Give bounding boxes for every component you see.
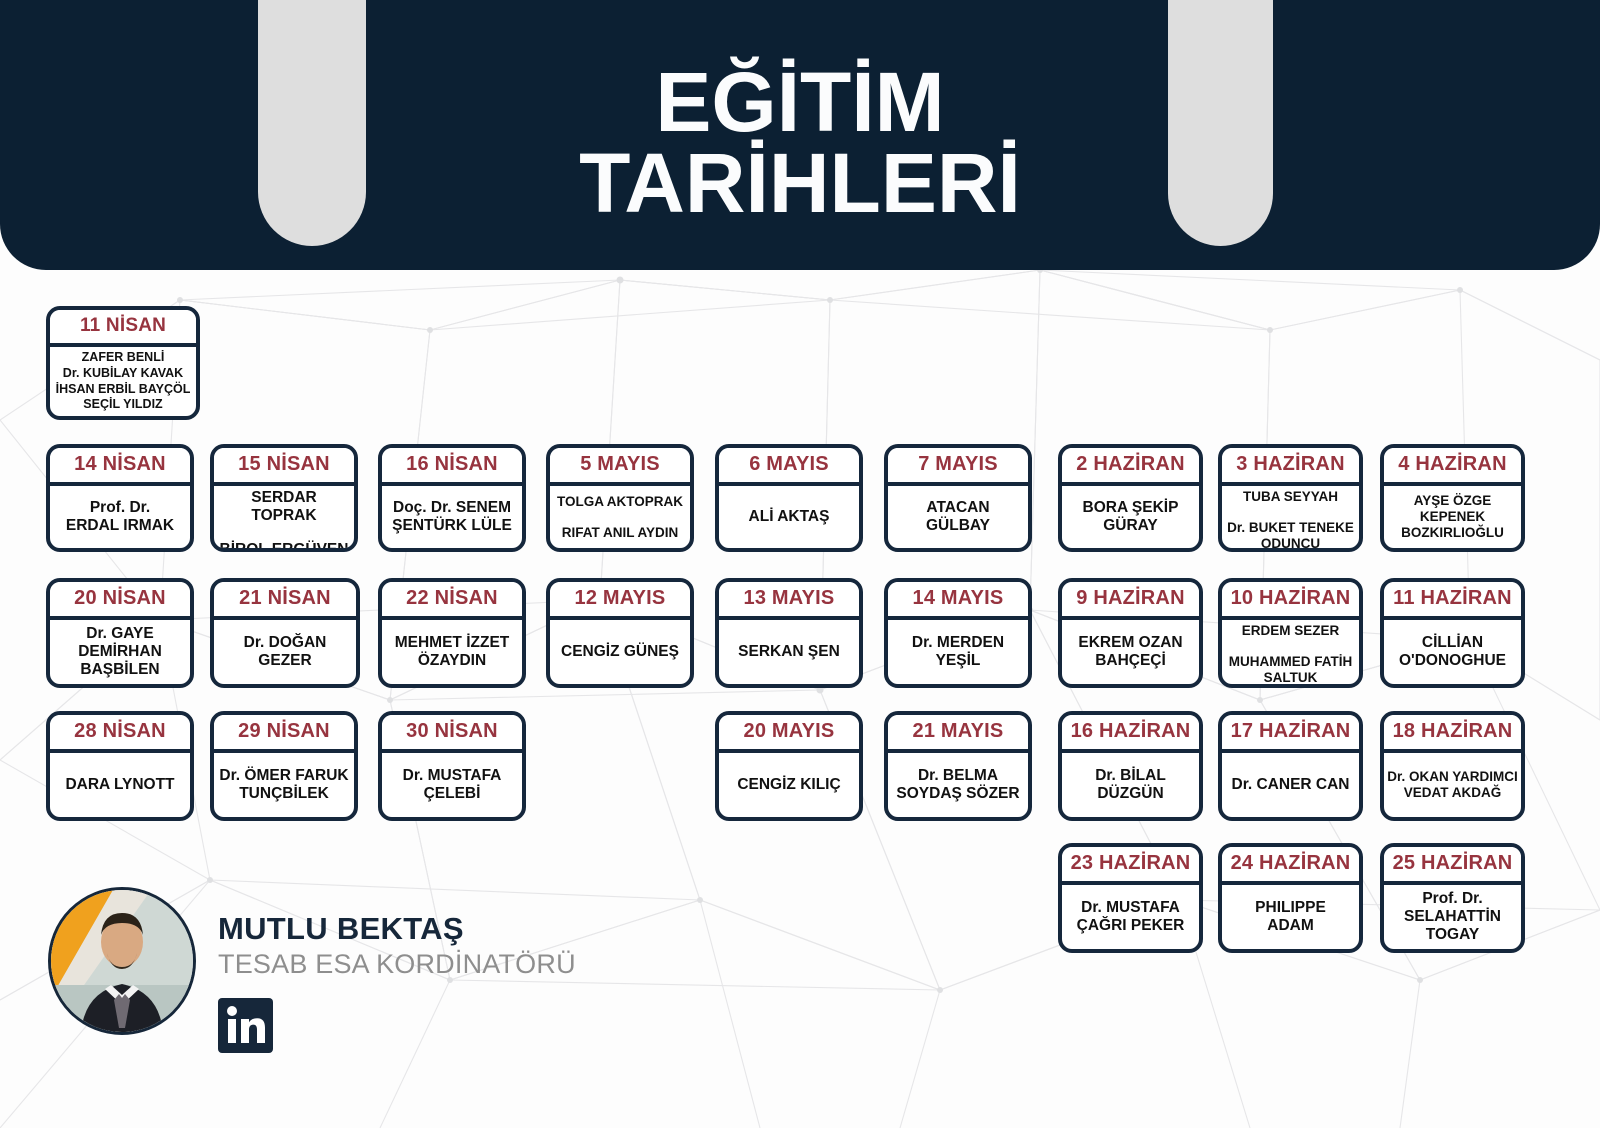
card-speaker-name: TUNÇBİLEK bbox=[239, 785, 329, 803]
training-date-card: 28 NİSANDARA LYNOTT bbox=[46, 711, 194, 821]
card-speaker-name: BAŞBİLEN bbox=[80, 661, 159, 679]
page-title: EĞİTİM TARİHLERİ bbox=[0, 62, 1600, 225]
card-date-label: 12 MAYIS bbox=[550, 582, 690, 620]
card-speaker-name: Dr. CANER CAN bbox=[1232, 776, 1350, 794]
card-speaker-list: Prof. Dr.ERDAL IRMAK bbox=[50, 486, 190, 548]
card-speaker-name: TOGAY bbox=[1426, 926, 1479, 944]
training-date-card: 16 HAZİRANDr. BİLALDÜZGÜN bbox=[1058, 711, 1203, 821]
card-date-label: 3 HAZİRAN bbox=[1222, 448, 1359, 486]
card-date-label: 21 NİSAN bbox=[214, 582, 356, 620]
card-date-label: 13 MAYIS bbox=[719, 582, 859, 620]
card-speaker-name: BAHÇEÇİ bbox=[1095, 652, 1166, 670]
card-speaker-name: ÖZAYDIN bbox=[418, 652, 486, 670]
card-speaker-name: VEDAT AKDAĞ bbox=[1404, 785, 1502, 801]
card-speaker-name: CENGİZ KILIÇ bbox=[737, 776, 840, 794]
card-speaker-list: Dr. MUSTAFAÇELEBİ bbox=[382, 753, 522, 817]
profile-name: MUTLU BEKTAŞ bbox=[218, 913, 688, 946]
avatar-portrait-image bbox=[51, 890, 193, 1032]
card-speaker-name: KEPENEK bbox=[1420, 509, 1485, 525]
card-date-label: 23 HAZİRAN bbox=[1062, 847, 1199, 885]
card-date-label: 22 NİSAN bbox=[382, 582, 522, 620]
card-date-label: 6 MAYIS bbox=[719, 448, 859, 486]
card-speaker-name: BİROL ERGÜVEN bbox=[220, 541, 349, 552]
card-speaker-list: Doç. Dr. SENEMŞENTÜRK LÜLE bbox=[382, 486, 522, 548]
page-title-line-1: EĞİTİM bbox=[0, 62, 1600, 143]
card-date-label: 21 MAYIS bbox=[888, 715, 1028, 753]
card-speaker-name: RIFAT ANIL AYDIN bbox=[562, 525, 679, 541]
training-date-card: 9 HAZİRANEKREM OZANBAHÇEÇİ bbox=[1058, 578, 1203, 688]
card-speaker-name: GÜRAY bbox=[1103, 517, 1158, 535]
card-speaker-name: Doç. Dr. SENEM bbox=[393, 499, 511, 517]
card-speaker-name: SOYDAŞ SÖZER bbox=[896, 785, 1019, 803]
card-speaker-name: CİLLİAN bbox=[1422, 634, 1483, 652]
card-date-label: 28 NİSAN bbox=[50, 715, 190, 753]
card-speaker-list: CENGİZ GÜNEŞ bbox=[550, 620, 690, 684]
card-speaker-name: SELAHATTİN bbox=[1404, 908, 1501, 926]
training-date-card: 14 NİSANProf. Dr.ERDAL IRMAK bbox=[46, 444, 194, 552]
training-date-card: 12 MAYISCENGİZ GÜNEŞ bbox=[546, 578, 694, 688]
training-date-card: 29 NİSANDr. ÖMER FARUKTUNÇBİLEK bbox=[210, 711, 358, 821]
card-speaker-name: ERDEM SEZER bbox=[1242, 623, 1340, 639]
card-speaker-name: ÇELEBİ bbox=[424, 785, 481, 803]
card-speaker-name: MUHAMMED FATİH SALTUK bbox=[1225, 654, 1356, 686]
training-date-card: 13 MAYISSERKAN ŞEN bbox=[715, 578, 863, 688]
avatar bbox=[48, 887, 196, 1035]
card-date-label: 29 NİSAN bbox=[214, 715, 354, 753]
training-date-card: 6 MAYISALİ AKTAŞ bbox=[715, 444, 863, 552]
card-date-label: 24 HAZİRAN bbox=[1222, 847, 1359, 885]
card-date-label: 25 HAZİRAN bbox=[1384, 847, 1521, 885]
card-speaker-name: PHILIPPE bbox=[1255, 899, 1326, 917]
card-speaker-name: İHSAN ERBİL BAYÇÖL bbox=[56, 382, 191, 398]
card-speaker-list: Dr. CANER CAN bbox=[1222, 753, 1359, 817]
card-speaker-name: ÇAĞRI PEKER bbox=[1077, 917, 1185, 935]
card-speaker-name: ERDAL IRMAK bbox=[66, 517, 174, 535]
card-date-label: 14 NİSAN bbox=[50, 448, 190, 486]
card-speaker-list: Dr. BELMASOYDAŞ SÖZER bbox=[888, 753, 1028, 817]
training-date-card: 25 HAZİRANProf. Dr.SELAHATTİNTOGAY bbox=[1380, 843, 1525, 953]
training-date-card: 30 NİSANDr. MUSTAFAÇELEBİ bbox=[378, 711, 526, 821]
card-date-label: 11 NİSAN bbox=[50, 310, 196, 347]
page-title-line-2: TARİHLERİ bbox=[0, 143, 1600, 224]
card-speaker-name: SERKAN ŞEN bbox=[738, 643, 840, 661]
card-speaker-list: Dr. MERDENYEŞİL bbox=[888, 620, 1028, 684]
training-date-card: 20 NİSANDr. GAYEDEMİRHANBAŞBİLEN bbox=[46, 578, 194, 688]
card-speaker-name: Dr. BUKET TENEKE ODUNCU bbox=[1225, 520, 1356, 552]
card-speaker-list: ERDEM SEZERMUHAMMED FATİH SALTUK bbox=[1222, 620, 1359, 688]
card-date-label: 15 NİSAN bbox=[214, 448, 354, 486]
card-speaker-list: SERKAN ŞEN bbox=[719, 620, 859, 684]
card-speaker-name: DEMİRHAN bbox=[78, 643, 162, 661]
card-speaker-name: EKREM OZAN bbox=[1078, 634, 1182, 652]
card-date-label: 4 HAZİRAN bbox=[1384, 448, 1521, 486]
presenter-profile: MUTLU BEKTAŞ TESAB ESA KORDİNATÖRÜ bbox=[48, 885, 688, 1045]
training-date-card: 11 HAZİRANCİLLİANO'DONOGHUE bbox=[1380, 578, 1525, 688]
training-date-card: 20 MAYISCENGİZ KILIÇ bbox=[715, 711, 863, 821]
card-speaker-name: Dr. DOĞAN GEZER bbox=[217, 634, 353, 671]
training-date-card: 16 NİSANDoç. Dr. SENEMŞENTÜRK LÜLE bbox=[378, 444, 526, 552]
card-date-label: 20 NİSAN bbox=[50, 582, 190, 620]
card-speaker-name: Dr. MUSTAFA bbox=[403, 767, 502, 785]
card-speaker-list: ALİ AKTAŞ bbox=[719, 486, 859, 548]
card-speaker-list: TUBA SEYYAHDr. BUKET TENEKE ODUNCU bbox=[1222, 486, 1359, 552]
training-date-card: 2 HAZİRANBORA ŞEKİPGÜRAY bbox=[1058, 444, 1203, 552]
card-speaker-name: TOLGA AKTOPRAK bbox=[557, 494, 683, 510]
card-speaker-name: ALİ AKTAŞ bbox=[749, 508, 830, 526]
card-speaker-list: Dr. ÖMER FARUKTUNÇBİLEK bbox=[214, 753, 354, 817]
card-date-label: 17 HAZİRAN bbox=[1222, 715, 1359, 753]
card-speaker-list: SERDAR TOPRAKBİROL ERGÜVEN bbox=[214, 486, 354, 552]
card-speaker-name: Dr. OKAN YARDIMCI bbox=[1387, 769, 1518, 785]
card-date-label: 16 NİSAN bbox=[382, 448, 522, 486]
card-speaker-name: ZAFER BENLİ bbox=[82, 350, 165, 366]
card-speaker-name: Dr. GAYE bbox=[86, 625, 154, 643]
card-speaker-name: BORA ŞEKİP bbox=[1083, 499, 1179, 517]
profile-role: TESAB ESA KORDİNATÖRÜ bbox=[218, 949, 688, 979]
card-speaker-name: Dr. BELMA bbox=[918, 767, 998, 785]
training-date-card: 7 MAYISATACANGÜLBAY bbox=[884, 444, 1032, 552]
card-date-label: 14 MAYIS bbox=[888, 582, 1028, 620]
card-speaker-list: ZAFER BENLİDr. KUBİLAY KAVAKİHSAN ERBİL … bbox=[50, 347, 196, 416]
card-speaker-name: DARA LYNOTT bbox=[65, 776, 174, 794]
card-speaker-name: Prof. Dr. bbox=[90, 499, 150, 517]
card-speaker-name: ADAM bbox=[1267, 917, 1314, 935]
card-speaker-list: PHILIPPEADAM bbox=[1222, 885, 1359, 949]
training-date-card: 22 NİSANMEHMET İZZETÖZAYDIN bbox=[378, 578, 526, 688]
card-speaker-name: BOZKIRLIOĞLU bbox=[1401, 525, 1504, 541]
training-date-card: 17 HAZİRANDr. CANER CAN bbox=[1218, 711, 1363, 821]
card-speaker-list: Dr. DOĞAN GEZER bbox=[214, 620, 356, 684]
card-date-label: 20 MAYIS bbox=[719, 715, 859, 753]
card-speaker-list: AYŞE ÖZGEKEPENEKBOZKIRLIOĞLU bbox=[1384, 486, 1521, 548]
card-speaker-name: TUBA SEYYAH bbox=[1243, 489, 1338, 505]
card-date-label: 11 HAZİRAN bbox=[1384, 582, 1521, 620]
training-date-card: 24 HAZİRANPHILIPPEADAM bbox=[1218, 843, 1363, 953]
card-speaker-name: ŞENTÜRK LÜLE bbox=[392, 517, 512, 535]
card-speaker-name: Dr. ÖMER FARUK bbox=[219, 767, 348, 785]
card-speaker-list: CİLLİANO'DONOGHUE bbox=[1384, 620, 1521, 684]
card-speaker-list: Dr. GAYEDEMİRHANBAŞBİLEN bbox=[50, 620, 190, 684]
poster-canvas: EĞİTİM TARİHLERİ 11 NİSANZAFER BENLİDr. … bbox=[0, 0, 1600, 1128]
training-date-card: 21 MAYISDr. BELMASOYDAŞ SÖZER bbox=[884, 711, 1032, 821]
card-speaker-list: Dr. BİLALDÜZGÜN bbox=[1062, 753, 1199, 817]
card-speaker-list: Prof. Dr.SELAHATTİNTOGAY bbox=[1384, 885, 1521, 949]
training-date-card: 10 HAZİRANERDEM SEZERMUHAMMED FATİH SALT… bbox=[1218, 578, 1363, 688]
training-date-card: 4 HAZİRANAYŞE ÖZGEKEPENEKBOZKIRLIOĞLU bbox=[1380, 444, 1525, 552]
card-speaker-name: DÜZGÜN bbox=[1097, 785, 1163, 803]
profile-text: MUTLU BEKTAŞ TESAB ESA KORDİNATÖRÜ bbox=[218, 913, 688, 979]
card-speaker-list: BORA ŞEKİPGÜRAY bbox=[1062, 486, 1199, 548]
card-date-label: 9 HAZİRAN bbox=[1062, 582, 1199, 620]
card-speaker-name: SEÇİL YILDIZ bbox=[83, 397, 162, 413]
card-speaker-name: GÜLBAY bbox=[926, 517, 990, 535]
training-date-card: 11 NİSANZAFER BENLİDr. KUBİLAY KAVAKİHSA… bbox=[46, 306, 200, 420]
card-date-label: 30 NİSAN bbox=[382, 715, 522, 753]
card-speaker-name: ATACAN bbox=[926, 499, 989, 517]
card-speaker-list: EKREM OZANBAHÇEÇİ bbox=[1062, 620, 1199, 684]
card-speaker-name: Prof. Dr. bbox=[1422, 890, 1482, 908]
card-date-label: 18 HAZİRAN bbox=[1384, 715, 1521, 753]
training-date-card: 14 MAYISDr. MERDENYEŞİL bbox=[884, 578, 1032, 688]
card-speaker-name: Dr. MUSTAFA bbox=[1081, 899, 1180, 917]
card-date-label: 7 MAYIS bbox=[888, 448, 1028, 486]
training-date-card: 3 HAZİRANTUBA SEYYAHDr. BUKET TENEKE ODU… bbox=[1218, 444, 1363, 552]
card-date-label: 2 HAZİRAN bbox=[1062, 448, 1199, 486]
card-speaker-name: SERDAR TOPRAK bbox=[217, 489, 351, 526]
card-speaker-list: DARA LYNOTT bbox=[50, 753, 190, 817]
card-speaker-name: CENGİZ GÜNEŞ bbox=[561, 643, 679, 661]
card-speaker-name: MEHMET İZZET bbox=[395, 634, 510, 652]
card-speaker-name: YEŞİL bbox=[936, 652, 981, 670]
training-date-card: 21 NİSANDr. DOĞAN GEZER bbox=[210, 578, 360, 688]
card-speaker-name: Dr. KUBİLAY KAVAK bbox=[63, 366, 183, 382]
card-speaker-list: TOLGA AKTOPRAKRIFAT ANIL AYDIN bbox=[550, 486, 690, 548]
linkedin-icon[interactable] bbox=[218, 998, 273, 1053]
training-date-card: 15 NİSANSERDAR TOPRAKBİROL ERGÜVEN bbox=[210, 444, 358, 552]
card-speaker-list: Dr. OKAN YARDIMCIVEDAT AKDAĞ bbox=[1384, 753, 1521, 817]
card-speaker-list: Dr. MUSTAFAÇAĞRI PEKER bbox=[1062, 885, 1199, 949]
card-speaker-list: CENGİZ KILIÇ bbox=[719, 753, 859, 817]
card-speaker-name: Dr. MERDEN bbox=[912, 634, 1004, 652]
card-speaker-name: Dr. BİLAL bbox=[1095, 767, 1166, 785]
card-speaker-list: ATACANGÜLBAY bbox=[888, 486, 1028, 548]
training-date-card: 5 MAYISTOLGA AKTOPRAKRIFAT ANIL AYDIN bbox=[546, 444, 694, 552]
card-speaker-list: MEHMET İZZETÖZAYDIN bbox=[382, 620, 522, 684]
card-date-label: 16 HAZİRAN bbox=[1062, 715, 1199, 753]
card-date-label: 5 MAYIS bbox=[550, 448, 690, 486]
training-date-card: 23 HAZİRANDr. MUSTAFAÇAĞRI PEKER bbox=[1058, 843, 1203, 953]
card-date-label: 10 HAZİRAN bbox=[1222, 582, 1359, 620]
card-speaker-name: O'DONOGHUE bbox=[1399, 652, 1506, 670]
training-date-card: 18 HAZİRANDr. OKAN YARDIMCIVEDAT AKDAĞ bbox=[1380, 711, 1525, 821]
card-speaker-name: AYŞE ÖZGE bbox=[1414, 493, 1492, 509]
